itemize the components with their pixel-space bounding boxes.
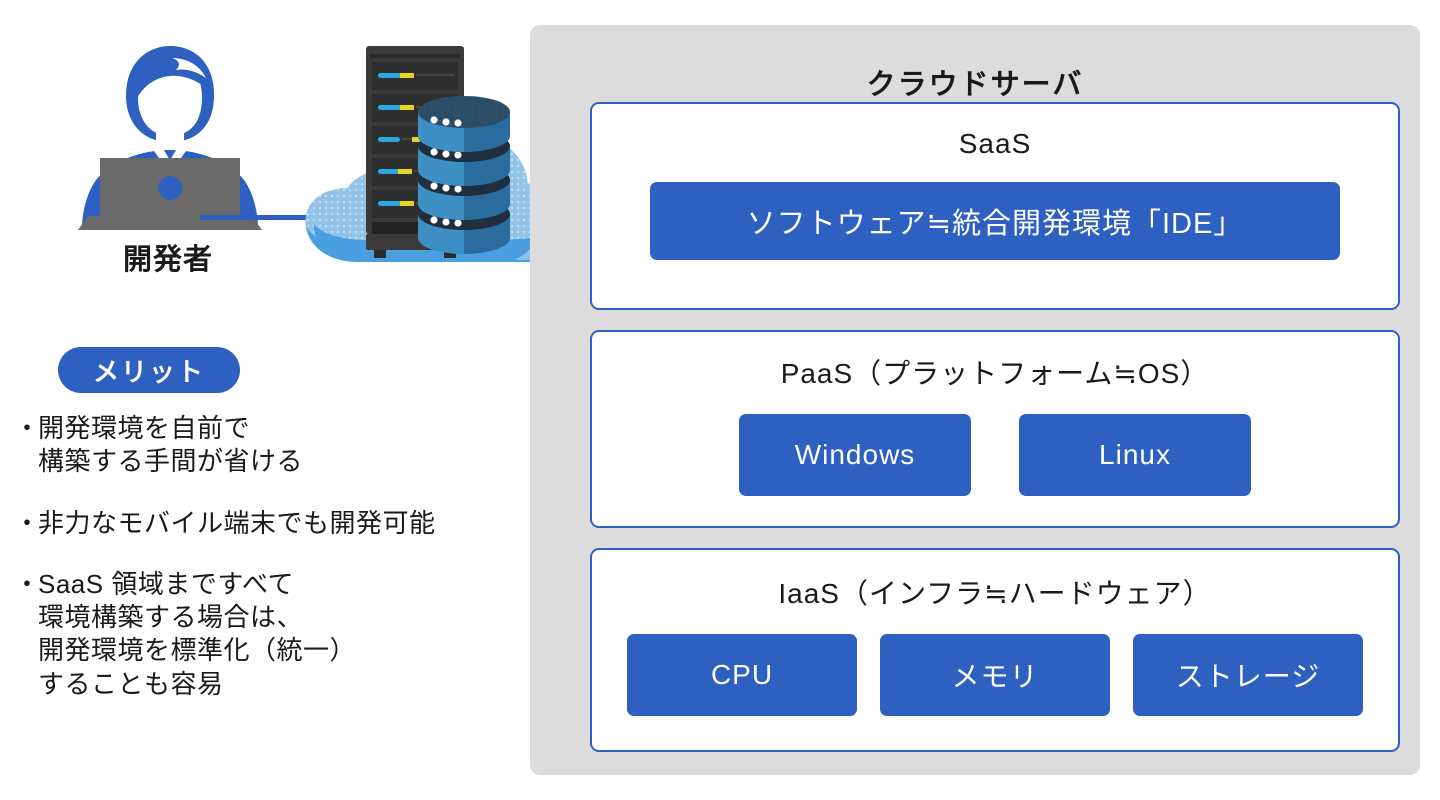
bullet-dot-icon: ・ xyxy=(14,568,38,601)
list-item: ・ 開発環境を自前で 構築する手間が省ける xyxy=(14,412,530,479)
saas-card: SaaS ソフトウェア≒統合開発環境「IDE」 xyxy=(590,102,1400,310)
iaas-card-title: IaaS（インフラ≒ハードウェア） xyxy=(592,550,1398,612)
saas-chip-row: ソフトウェア≒統合開発環境「IDE」 xyxy=(592,160,1398,260)
paas-card-title: PaaS（プラットフォーム≒OS） xyxy=(592,332,1398,392)
chip-windows[interactable]: Windows xyxy=(739,414,971,496)
chip-ide[interactable]: ソフトウェア≒統合開発環境「IDE」 xyxy=(650,182,1340,260)
chip-cpu[interactable]: CPU xyxy=(627,634,857,716)
bullet-dot-icon: ・ xyxy=(14,507,38,540)
iaas-card: IaaS（インフラ≒ハードウェア） CPU メモリ ストレージ xyxy=(590,548,1400,752)
chip-memory[interactable]: メモリ xyxy=(880,634,1110,716)
merit-badge: メリット xyxy=(58,347,240,393)
paas-card: PaaS（プラットフォーム≒OS） Windows Linux xyxy=(590,330,1400,528)
diagram-canvas: 開発者 xyxy=(0,0,1440,800)
saas-card-title: SaaS xyxy=(592,104,1398,160)
list-item: ・ SaaS 領域まですべて 環境構築する場合は、 開発環境を標準化（統一） す… xyxy=(14,568,530,701)
iaas-chip-row: CPU メモリ ストレージ xyxy=(592,612,1398,716)
left-column: 開発者 xyxy=(0,0,530,800)
list-item-text: 非力なモバイル端末でも開発可能 xyxy=(38,507,530,540)
bullet-dot-icon: ・ xyxy=(14,412,38,445)
chip-linux[interactable]: Linux xyxy=(1019,414,1251,496)
paas-chip-row: Windows Linux xyxy=(592,392,1398,496)
list-item-text: SaaS 領域まですべて 環境構築する場合は、 開発環境を標準化（統一） するこ… xyxy=(38,568,530,701)
developer-label: 開発者 xyxy=(48,236,288,278)
chip-storage[interactable]: ストレージ xyxy=(1133,634,1363,716)
list-item: ・ 非力なモバイル端末でも開発可能 xyxy=(14,507,530,540)
list-item-text: 開発環境を自前で 構築する手間が省ける xyxy=(38,412,530,479)
developer-icon xyxy=(48,38,288,238)
cloud-server-panel: クラウドサーバ SaaS ソフトウェア≒統合開発環境「IDE」 PaaS（プラッ… xyxy=(530,25,1420,775)
page-title: クラウドサーバ xyxy=(530,61,1420,103)
merit-bullet-list: ・ 開発環境を自前で 構築する手間が省ける ・ 非力なモバイル端末でも開発可能 … xyxy=(14,412,530,729)
